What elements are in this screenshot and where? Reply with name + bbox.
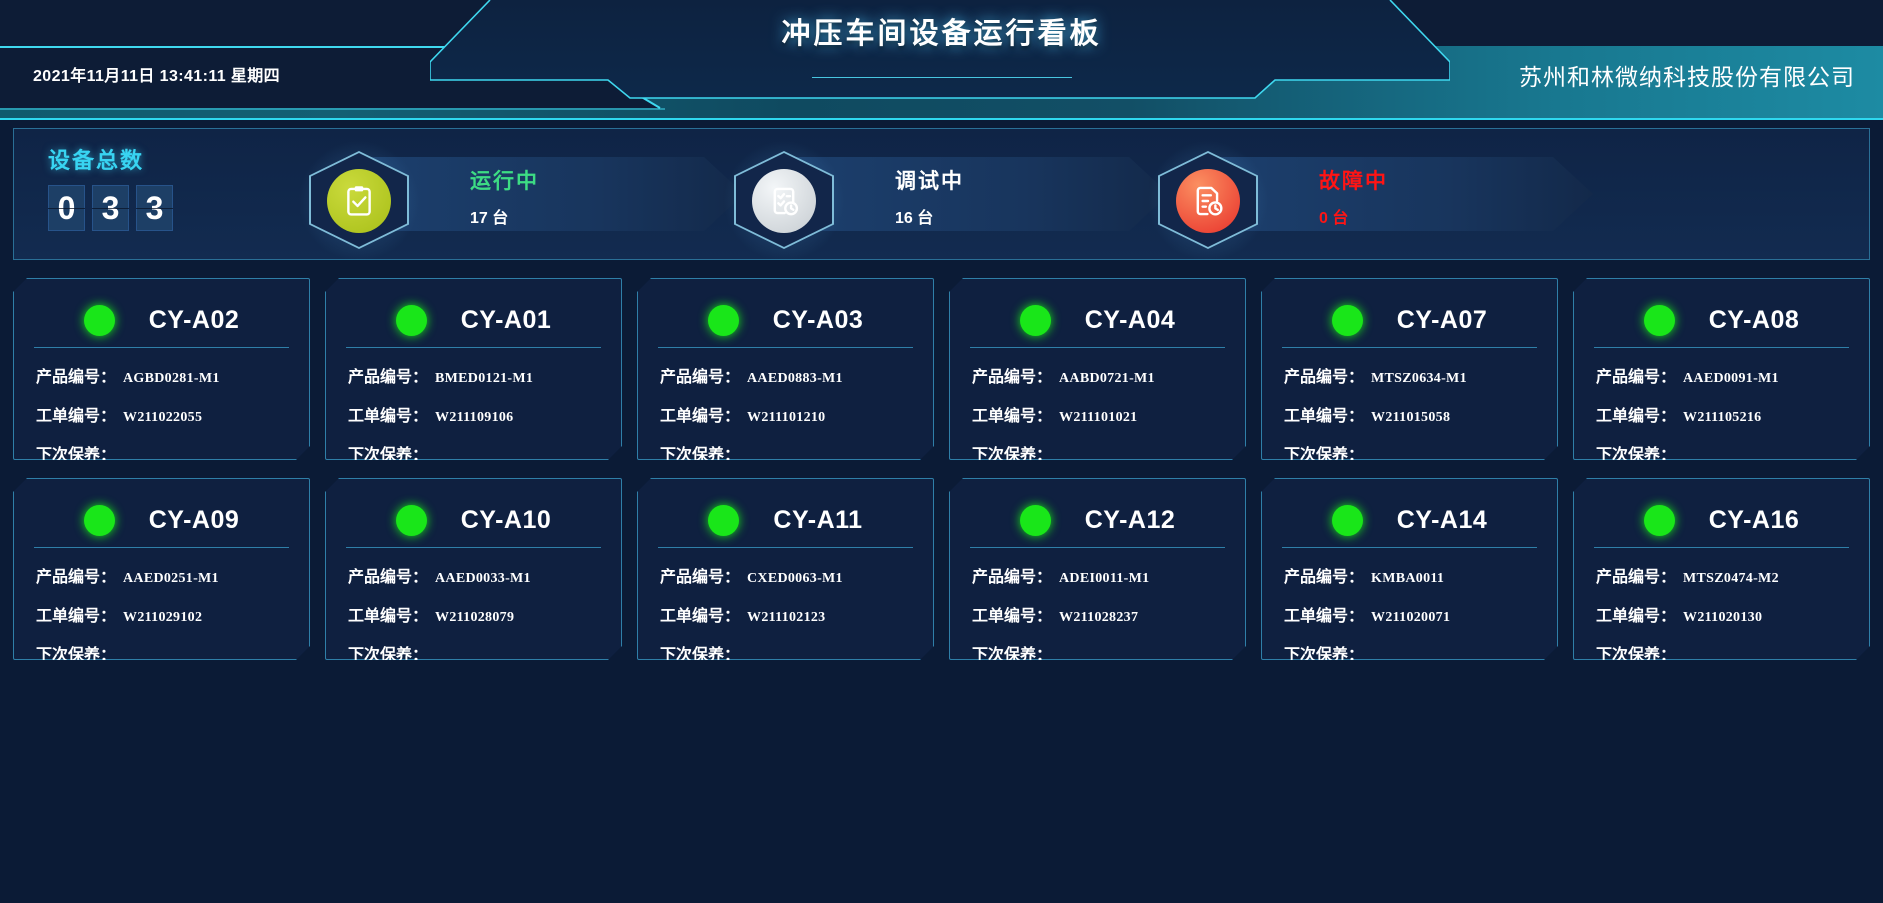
card-divider <box>346 347 601 348</box>
card-divider <box>1282 347 1537 348</box>
equipment-name: CY-A04 <box>1085 306 1176 335</box>
work-order-value: W211102123 <box>747 610 825 626</box>
status-indicator-icon <box>1644 305 1675 336</box>
status-indicator-icon <box>708 305 739 336</box>
equipment-card[interactable]: CY-A09产品编号：AAED0251-M1工单编号：W211029102下次保… <box>13 478 310 660</box>
product-no-value: BMED0121-M1 <box>435 371 533 387</box>
work-order-value: W211020130 <box>1683 610 1762 626</box>
product-no-label: 产品编号： <box>1284 363 1364 387</box>
clipboard-clock-icon <box>752 169 816 233</box>
work-order-value: W211028237 <box>1059 610 1138 626</box>
page-title: 冲压车间设备运行看板 <box>0 10 1883 52</box>
card-divider <box>1594 547 1849 548</box>
product-no-value: CXED0063-M1 <box>747 571 843 587</box>
equipment-name: CY-A01 <box>461 306 552 335</box>
equipment-card[interactable]: CY-A14产品编号：KMBA0011工单编号：W211020071下次保养： <box>1261 478 1558 660</box>
status-indicator-icon <box>396 505 427 536</box>
work-order-label: 工单编号： <box>972 402 1052 426</box>
product-no-label: 产品编号： <box>660 363 740 387</box>
product-no-value: AAED0251-M1 <box>123 571 219 587</box>
work-order-value: W211022055 <box>123 410 202 426</box>
card-header: CY-A10 <box>340 493 607 547</box>
product-no-label: 产品编号： <box>972 363 1052 387</box>
card-header: CY-A02 <box>28 293 295 347</box>
equipment-name: CY-A02 <box>149 306 240 335</box>
product-no-value: MTSZ0634-M1 <box>1371 371 1467 387</box>
equipment-card[interactable]: CY-A12产品编号：ADEI0011-M1工单编号：W211028237下次保… <box>949 478 1246 660</box>
card-header: CY-A12 <box>964 493 1231 547</box>
work-order-value: W211020071 <box>1371 610 1450 626</box>
equipment-card[interactable]: CY-A01产品编号：BMED0121-M1工单编号：W211109106下次保… <box>325 278 622 460</box>
card-header: CY-A11 <box>652 493 919 547</box>
status-indicator-icon <box>708 505 739 536</box>
card-header: CY-A09 <box>28 493 295 547</box>
next-maintenance-row: 下次保养： <box>340 441 607 465</box>
product-no-label: 产品编号： <box>348 363 428 387</box>
equipment-card[interactable]: CY-A04产品编号：AABD0721-M1工单编号：W211101021下次保… <box>949 278 1246 460</box>
next-maintenance-label: 下次保养： <box>972 441 1052 465</box>
equipment-card[interactable]: CY-A07产品编号：MTSZ0634-M1工单编号：W211015058下次保… <box>1261 278 1558 460</box>
work-order-label: 工单编号： <box>1284 402 1364 426</box>
product-no-row: 产品编号：AAED0091-M1 <box>1588 363 1855 387</box>
digit-hundreds: 0 <box>48 185 85 231</box>
stat-debugging-label: 调试中 <box>895 165 964 195</box>
card-header: CY-A16 <box>1588 493 1855 547</box>
status-indicator-icon <box>1020 505 1051 536</box>
product-no-label: 产品编号： <box>36 363 116 387</box>
product-no-value: AGBD0281-M1 <box>123 371 220 387</box>
work-order-label: 工单编号： <box>660 402 740 426</box>
stat-fault-count: 0 台 <box>1319 204 1388 228</box>
next-maintenance-row: 下次保养： <box>964 641 1231 665</box>
next-maintenance-row: 下次保养： <box>28 641 295 665</box>
status-indicator-icon <box>84 305 115 336</box>
product-no-row: 产品编号：CXED0063-M1 <box>652 563 919 587</box>
work-order-label: 工单编号： <box>660 602 740 626</box>
next-maintenance-label: 下次保养： <box>36 641 116 665</box>
stat-fault-text: 故障中 0 台 <box>1319 165 1388 228</box>
product-no-value: ADEI0011-M1 <box>1059 571 1149 587</box>
product-no-label: 产品编号： <box>1596 563 1676 587</box>
work-order-row: 工单编号：W211101021 <box>964 402 1231 426</box>
document-clock-icon <box>1176 169 1240 233</box>
next-maintenance-row: 下次保养： <box>652 641 919 665</box>
card-header: CY-A08 <box>1588 293 1855 347</box>
product-no-value: AAED0091-M1 <box>1683 371 1779 387</box>
stat-debugging-count: 16 台 <box>895 204 964 228</box>
product-no-row: 产品编号：KMBA0011 <box>1276 563 1543 587</box>
equipment-name: CY-A10 <box>461 506 552 535</box>
card-header: CY-A03 <box>652 293 919 347</box>
equipment-card-grid: CY-A02产品编号：AGBD0281-M1工单编号：W211022055下次保… <box>13 278 1870 660</box>
work-order-row: 工单编号：W211101210 <box>652 402 919 426</box>
product-no-row: 产品编号：MTSZ0474-M2 <box>1588 563 1855 587</box>
stat-fault[interactable]: 故障中 0 台 <box>1149 149 1709 241</box>
status-indicator-icon <box>1020 305 1051 336</box>
total-equipment-label: 设备总数 <box>48 143 268 175</box>
work-order-label: 工单编号： <box>972 602 1052 626</box>
equipment-card[interactable]: CY-A11产品编号：CXED0063-M1工单编号：W211102123下次保… <box>637 478 934 660</box>
work-order-value: W211101021 <box>1059 410 1137 426</box>
product-no-label: 产品编号： <box>660 563 740 587</box>
work-order-row: 工单编号：W211109106 <box>340 402 607 426</box>
work-order-row: 工单编号：W211022055 <box>28 402 295 426</box>
equipment-card[interactable]: CY-A02产品编号：AGBD0281-M1工单编号：W211022055下次保… <box>13 278 310 460</box>
next-maintenance-label: 下次保养： <box>36 441 116 465</box>
stat-running-label: 运行中 <box>470 165 539 195</box>
work-order-label: 工单编号： <box>1284 602 1364 626</box>
work-order-label: 工单编号： <box>1596 402 1676 426</box>
stat-fault-hex <box>1149 149 1267 251</box>
title-underline <box>812 77 1072 78</box>
work-order-row: 工单编号：W211020071 <box>1276 602 1543 626</box>
work-order-row: 工单编号：W211102123 <box>652 602 919 626</box>
product-no-label: 产品编号： <box>348 563 428 587</box>
work-order-value: W211109106 <box>435 410 513 426</box>
work-order-value: W211105216 <box>1683 410 1761 426</box>
card-divider <box>658 547 913 548</box>
work-order-label: 工单编号： <box>348 402 428 426</box>
work-order-value: W211029102 <box>123 610 202 626</box>
card-divider <box>970 347 1225 348</box>
stat-running-count: 17 台 <box>470 204 539 228</box>
card-header: CY-A04 <box>964 293 1231 347</box>
next-maintenance-label: 下次保养： <box>348 441 428 465</box>
card-divider <box>970 547 1225 548</box>
product-no-row: 产品编号：AABD0721-M1 <box>964 363 1231 387</box>
product-no-value: AABD0721-M1 <box>1059 371 1155 387</box>
stat-running-text: 运行中 17 台 <box>470 165 539 228</box>
work-order-label: 工单编号： <box>36 402 116 426</box>
card-header: CY-A01 <box>340 293 607 347</box>
equipment-name: CY-A14 <box>1397 506 1488 535</box>
status-indicator-icon <box>1644 505 1675 536</box>
work-order-label: 工单编号： <box>1596 602 1676 626</box>
digit-tens: 3 <box>92 185 129 231</box>
card-header: CY-A14 <box>1276 493 1543 547</box>
card-header: CY-A07 <box>1276 293 1543 347</box>
status-indicator-icon <box>84 505 115 536</box>
product-no-value: KMBA0011 <box>1371 571 1444 587</box>
next-maintenance-row: 下次保养： <box>1276 641 1543 665</box>
card-divider <box>1282 547 1537 548</box>
card-divider <box>658 347 913 348</box>
equipment-name: CY-A07 <box>1397 306 1488 335</box>
product-no-row: 产品编号：AAED0251-M1 <box>28 563 295 587</box>
company-name: 苏州和林微纳科技股份有限公司 <box>1519 58 1855 92</box>
datetime-display: 2021年11月11日 13:41:11 星期四 <box>33 62 280 86</box>
product-no-label: 产品编号： <box>1284 563 1364 587</box>
dashboard-header: 冲压车间设备运行看板 2021年11月11日 13:41:11 星期四 苏州和林… <box>0 0 1883 120</box>
status-indicator-icon <box>1332 305 1363 336</box>
next-maintenance-label: 下次保养： <box>1284 441 1364 465</box>
equipment-card[interactable]: CY-A10产品编号：AAED0033-M1工单编号：W211028079下次保… <box>325 478 622 660</box>
next-maintenance-label: 下次保养： <box>660 441 740 465</box>
work-order-row: 工单编号：W211028237 <box>964 602 1231 626</box>
next-maintenance-label: 下次保养： <box>1596 641 1676 665</box>
product-no-row: 产品编号：MTSZ0634-M1 <box>1276 363 1543 387</box>
product-no-row: 产品编号：AGBD0281-M1 <box>28 363 295 387</box>
equipment-name: CY-A16 <box>1709 506 1800 535</box>
equipment-name: CY-A11 <box>773 506 862 535</box>
product-no-value: MTSZ0474-M2 <box>1683 571 1779 587</box>
total-equipment-digits: 0 3 3 <box>48 185 268 231</box>
status-indicator-icon <box>1332 505 1363 536</box>
equipment-name: CY-A12 <box>1085 506 1176 535</box>
next-maintenance-row: 下次保养： <box>1588 441 1855 465</box>
stat-debugging-hex <box>725 149 843 251</box>
next-maintenance-row: 下次保养： <box>1588 641 1855 665</box>
next-maintenance-row: 下次保养： <box>1276 441 1543 465</box>
product-no-label: 产品编号： <box>972 563 1052 587</box>
work-order-label: 工单编号： <box>348 602 428 626</box>
product-no-row: 产品编号：BMED0121-M1 <box>340 363 607 387</box>
product-no-value: AAED0033-M1 <box>435 571 531 587</box>
next-maintenance-label: 下次保养： <box>660 641 740 665</box>
stat-running-hex <box>300 149 418 251</box>
product-no-label: 产品编号： <box>36 563 116 587</box>
work-order-label: 工单编号： <box>36 602 116 626</box>
product-no-row: 产品编号：ADEI0011-M1 <box>964 563 1231 587</box>
product-no-label: 产品编号： <box>1596 363 1676 387</box>
next-maintenance-row: 下次保养： <box>28 441 295 465</box>
next-maintenance-label: 下次保养： <box>1284 641 1364 665</box>
equipment-name: CY-A08 <box>1709 306 1800 335</box>
next-maintenance-label: 下次保养： <box>1596 441 1676 465</box>
product-no-value: AAED0883-M1 <box>747 371 843 387</box>
work-order-value: W211015058 <box>1371 410 1450 426</box>
equipment-name: CY-A03 <box>773 306 864 335</box>
equipment-card[interactable]: CY-A16产品编号：MTSZ0474-M2工单编号：W211020130下次保… <box>1573 478 1870 660</box>
work-order-value: W211101210 <box>747 410 825 426</box>
work-order-row: 工单编号：W211015058 <box>1276 402 1543 426</box>
next-maintenance-label: 下次保养： <box>972 641 1052 665</box>
work-order-row: 工单编号：W211105216 <box>1588 402 1855 426</box>
stat-fault-label: 故障中 <box>1319 165 1388 195</box>
work-order-row: 工单编号：W211020130 <box>1588 602 1855 626</box>
stats-panel: 设备总数 0 3 3 运行中 17 台 <box>13 128 1870 260</box>
next-maintenance-row: 下次保养： <box>340 641 607 665</box>
equipment-card[interactable]: CY-A03产品编号：AAED0883-M1工单编号：W211101210下次保… <box>637 278 934 460</box>
product-no-row: 产品编号：AAED0033-M1 <box>340 563 607 587</box>
card-divider <box>34 347 289 348</box>
next-maintenance-row: 下次保养： <box>964 441 1231 465</box>
work-order-row: 工单编号：W211029102 <box>28 602 295 626</box>
card-divider <box>1594 347 1849 348</box>
status-indicator-icon <box>396 305 427 336</box>
work-order-value: W211028079 <box>435 610 514 626</box>
stat-debugging-text: 调试中 16 台 <box>895 165 964 228</box>
card-divider <box>34 547 289 548</box>
work-order-row: 工单编号：W211028079 <box>340 602 607 626</box>
next-maintenance-row: 下次保养： <box>652 441 919 465</box>
card-divider <box>346 547 601 548</box>
equipment-name: CY-A09 <box>149 506 240 535</box>
digit-ones: 3 <box>136 185 173 231</box>
next-maintenance-label: 下次保养： <box>348 641 428 665</box>
clipboard-check-icon <box>327 169 391 233</box>
total-equipment-block: 设备总数 0 3 3 <box>48 143 268 247</box>
product-no-row: 产品编号：AAED0883-M1 <box>652 363 919 387</box>
equipment-card[interactable]: CY-A08产品编号：AAED0091-M1工单编号：W211105216下次保… <box>1573 278 1870 460</box>
